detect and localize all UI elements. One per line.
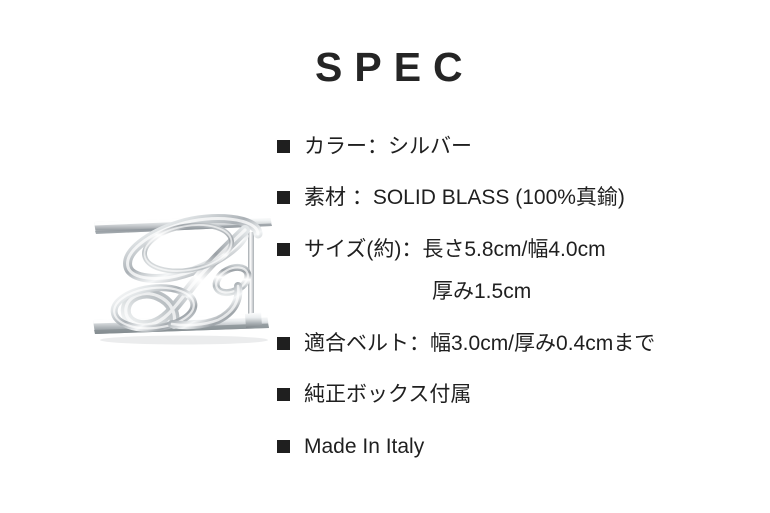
spec-item-size-continuation: 厚み1.5cm [277,277,747,307]
bullet-square-icon [277,191,290,204]
spec-item-subline: 厚み1.5cm [432,277,747,307]
spec-list: カラー：シルバー 素材 ：SOLID BLASS (100%真鍮) サイズ(約)… [277,132,747,462]
spec-item-label: 純正ボックス付属 [304,380,471,410]
spec-content: SPEC カラー：シルバー 素材 ：SOLID BLASS (100%真鍮) サ… [277,47,747,483]
spec-item-label: 素材 ：SOLID BLASS (100%真鍮) [304,183,625,213]
spec-item-material: 素材 ：SOLID BLASS (100%真鍮) [277,183,747,213]
buckle-shadow [100,336,268,345]
spec-item-origin: Made In Italy [277,432,747,462]
page-title: SPEC [315,47,747,88]
spec-item-label: 適合ベルト：幅3.0cm/厚み0.4cmまで [304,329,655,359]
bullet-square-icon [277,440,290,453]
spec-item-label: カラー：シルバー [304,132,472,162]
buckle-g-monogram [112,219,258,333]
spec-item-belt: 適合ベルト：幅3.0cm/厚み0.4cmまで [277,329,747,359]
spec-item-color: カラー：シルバー [277,132,747,162]
bullet-square-icon [277,388,290,401]
bullet-square-icon [277,337,290,350]
bullet-square-icon [277,243,290,256]
bullet-square-icon [277,140,290,153]
product-image [62,174,302,369]
spec-item-box: 純正ボックス付属 [277,380,747,410]
spec-page: SPEC カラー：シルバー 素材 ：SOLID BLASS (100%真鍮) サ… [0,0,770,513]
belt-buckle-illustration [62,174,302,369]
spec-item-label: Made In Italy [304,432,424,462]
spec-item-label: サイズ(約)：長さ5.8cm/幅4.0cm [304,235,606,265]
spec-item-size: サイズ(約)：長さ5.8cm/幅4.0cm [277,235,747,265]
